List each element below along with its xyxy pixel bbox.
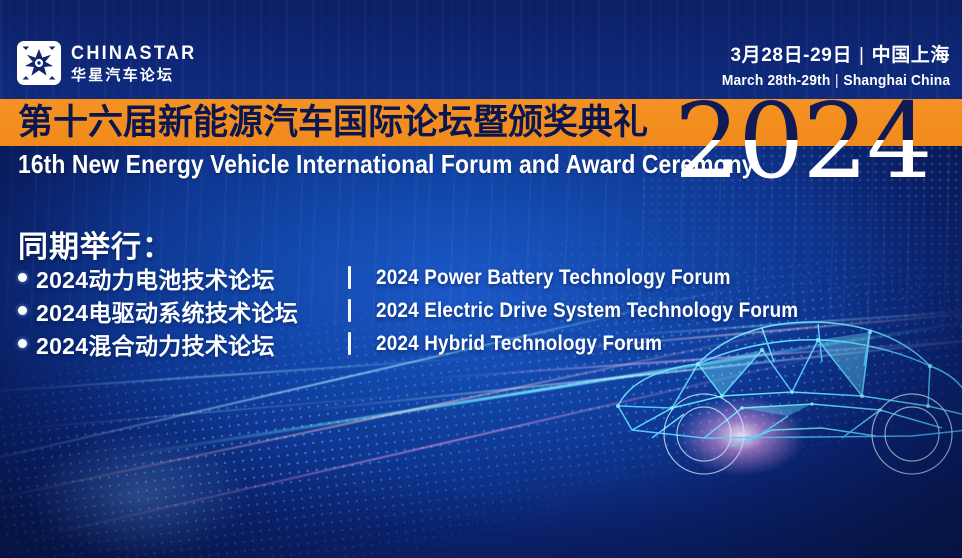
event-poster: CHINASTAR 华星汽车论坛 3月28日-29日|中国上海 March 28… <box>0 0 962 558</box>
forum-separator <box>348 332 351 355</box>
date-separator-cn: | <box>852 45 872 67</box>
forum-name-en: 2024 Electric Drive System Technology Fo… <box>376 299 798 323</box>
forum-name-en: 2024 Hybrid Technology Forum <box>376 332 662 356</box>
bullet-icon <box>18 339 27 348</box>
forum-name-cn: 2024动力电池技术论坛 <box>36 261 275 295</box>
forum-name-cn: 2024电驱动系统技术论坛 <box>36 294 298 328</box>
date-location-en-line: March 28th-29th|Shanghai China <box>722 72 950 89</box>
date-separator-en: | <box>830 72 843 89</box>
brand-wordmark: CHINASTAR 华星汽车论坛 <box>71 44 203 83</box>
date-location-cn-line: 3月28日-29日|中国上海 <box>702 40 950 67</box>
page-title-en: 16th New Energy Vehicle International Fo… <box>18 147 755 181</box>
date-cn: 3月28日-29日 <box>730 45 852 66</box>
bullet-icon <box>18 306 27 315</box>
list-item[interactable]: 2024电驱动系统技术论坛 2024 Electric Drive System… <box>18 295 298 326</box>
poster-header: CHINASTAR 华星汽车论坛 3月28日-29日|中国上海 March 28… <box>0 0 962 100</box>
brand-name-cn: 华星汽车论坛 <box>71 68 203 83</box>
location-cn: 中国上海 <box>872 45 950 66</box>
location-en: Shanghai China <box>843 72 950 89</box>
concurrent-forum-list: 2024动力电池技术论坛 2024 Power Battery Technolo… <box>18 262 298 361</box>
brand-logo[interactable]: CHINASTAR 华星汽车论坛 <box>16 40 203 86</box>
forum-separator <box>348 266 351 289</box>
forum-name-en: 2024 Power Battery Technology Forum <box>376 266 731 290</box>
forum-separator <box>348 299 351 322</box>
chinastar-emblem-icon <box>16 40 62 86</box>
concurrent-heading: 同期举行： <box>18 222 173 266</box>
event-date-location: 3月28日-29日|中国上海 March 28th-29th|Shanghai … <box>702 40 950 89</box>
brand-name-en: CHINASTAR <box>71 44 196 63</box>
bullet-icon <box>18 273 27 282</box>
date-en: March 28th-29th <box>722 72 831 89</box>
wireframe-electric-car-icon <box>612 288 962 518</box>
forum-name-cn: 2024混合动力技术论坛 <box>36 327 275 361</box>
list-item[interactable]: 2024混合动力技术论坛 2024 Hybrid Technology Foru… <box>18 328 298 359</box>
page-title-cn: 第十六届新能源汽车国际论坛暨颁奖典礼 <box>18 99 648 146</box>
list-item[interactable]: 2024动力电池技术论坛 2024 Power Battery Technolo… <box>18 262 298 293</box>
